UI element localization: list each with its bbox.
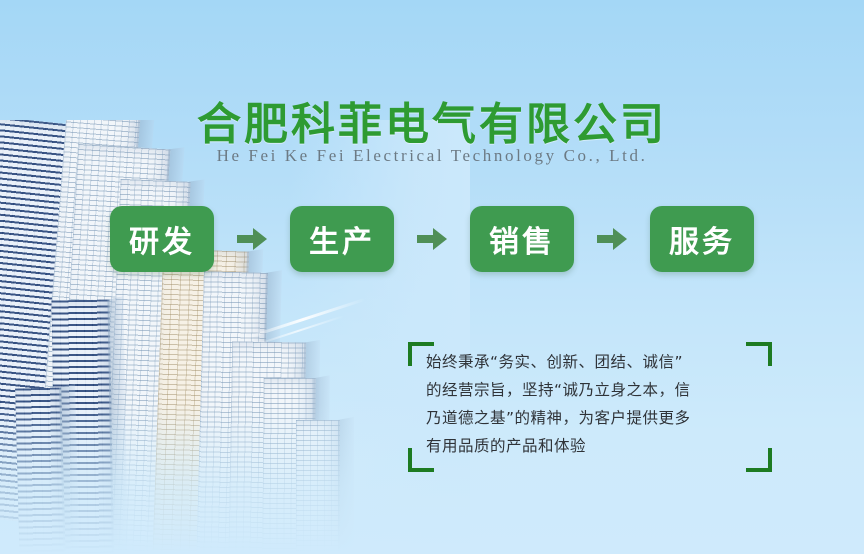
process-step-service[interactable]: 服务 bbox=[650, 206, 754, 272]
company-banner: 合肥科菲电气有限公司 He Fei Ke Fei Electrical Tech… bbox=[0, 0, 864, 554]
page-title: 合肥科菲电气有限公司 bbox=[0, 88, 864, 152]
company-motto-block: 始终秉承“务实、创新、团结、诚信” 的经营宗旨，坚持“诚乃立身之本，信 乃道德之… bbox=[408, 342, 772, 472]
process-step-production[interactable]: 生产 bbox=[290, 206, 394, 272]
motto-text: 始终秉承“务实、创新、团结、诚信” 的经营宗旨，坚持“诚乃立身之本，信 乃道德之… bbox=[426, 348, 756, 460]
building bbox=[15, 387, 66, 554]
motto-line: 有用品质的产品和体验 bbox=[426, 432, 756, 460]
motto-line: 乃道德之基”的精神，为客户提供更多 bbox=[426, 404, 756, 432]
motto-line: 的经营宗旨，坚持“诚乃立身之本，信 bbox=[426, 376, 756, 404]
arrow-right-icon bbox=[574, 228, 650, 250]
process-step-sales[interactable]: 销售 bbox=[470, 206, 574, 272]
cityscape-illustration bbox=[0, 120, 470, 554]
page-subtitle: He Fei Ke Fei Electrical Technology Co.,… bbox=[0, 146, 864, 166]
arrow-right-icon bbox=[394, 228, 470, 250]
process-step-rd[interactable]: 研发 bbox=[110, 206, 214, 272]
arrow-right-icon bbox=[214, 228, 290, 250]
motto-line: 始终秉承“务实、创新、团结、诚信” bbox=[426, 348, 756, 376]
process-flow: 研发 生产 销售 服务 bbox=[110, 205, 780, 273]
building bbox=[296, 420, 340, 554]
